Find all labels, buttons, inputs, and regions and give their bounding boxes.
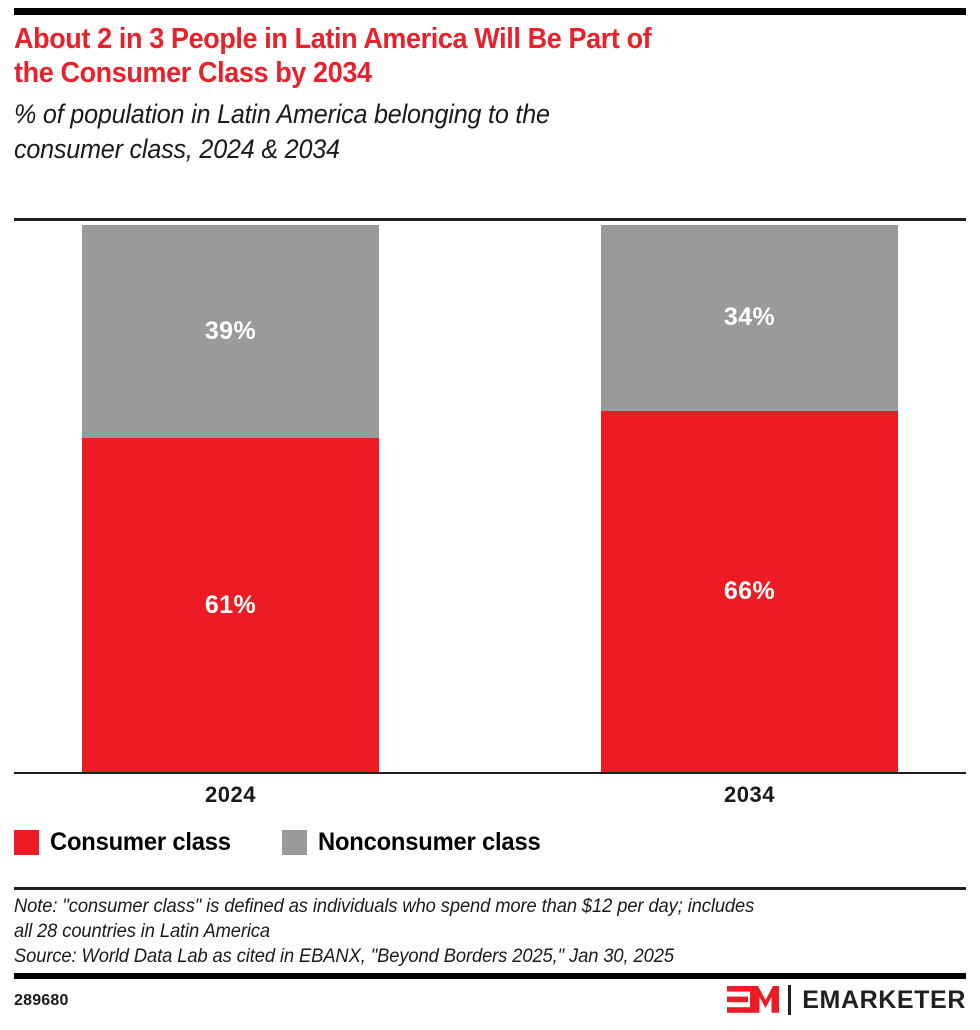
chart-legend: Consumer class Nonconsumer class — [14, 828, 595, 857]
bar-segment-nonconsumer-2024[interactable]: 39% — [82, 225, 379, 438]
bar-segment-consumer-2034[interactable]: 66% — [601, 411, 898, 772]
x-axis-line — [14, 772, 966, 774]
plot-area: 39% 61% 34% 66% — [0, 225, 980, 772]
legend-label: Nonconsumer class — [318, 828, 540, 857]
brand-name: EMARKETER — [802, 988, 966, 1013]
brand-divider-icon — [788, 985, 791, 1015]
chart-title: About 2 in 3 People in Latin America Wil… — [14, 22, 899, 90]
bar-group-2024: 39% 61% — [82, 225, 379, 772]
x-axis-tick-2024: 2024 — [82, 782, 379, 808]
em-logo-icon — [727, 985, 779, 1015]
chart-page: About 2 in 3 People in Latin America Wil… — [0, 0, 980, 1030]
bar-segment-consumer-2024[interactable]: 61% — [82, 438, 379, 772]
bar-value-label: 39% — [205, 317, 256, 346]
bar-segment-nonconsumer-2034[interactable]: 34% — [601, 225, 898, 411]
chart-header: About 2 in 3 People in Latin America Wil… — [14, 22, 966, 167]
footer-divider — [14, 973, 966, 979]
header-divider — [14, 218, 966, 221]
legend-item-nonconsumer-class[interactable]: Nonconsumer class — [282, 828, 552, 857]
legend-swatch-icon — [282, 830, 307, 855]
legend-swatch-icon — [14, 830, 39, 855]
chart-id: 289680 — [14, 992, 69, 1010]
footnotes: Note: "consumer class" is defined as ind… — [14, 894, 966, 969]
brand-lockup: EMARKETER — [727, 984, 966, 1016]
note-text: Note: "consumer class" is defined as ind… — [14, 894, 909, 944]
bar-group-2034: 34% 66% — [601, 225, 898, 772]
top-divider — [14, 8, 966, 15]
x-axis-tick-2034: 2034 — [601, 782, 898, 808]
chart-subtitle: % of population in Latin America belongi… — [14, 97, 899, 167]
bar-value-label: 66% — [724, 577, 775, 606]
legend-item-consumer-class[interactable]: Consumer class — [14, 828, 240, 857]
legend-label: Consumer class — [50, 828, 231, 857]
note-divider — [14, 887, 966, 890]
source-text: Source: World Data Lab as cited in EBANX… — [14, 944, 909, 969]
bar-value-label: 61% — [205, 591, 256, 620]
bar-value-label: 34% — [724, 303, 775, 332]
